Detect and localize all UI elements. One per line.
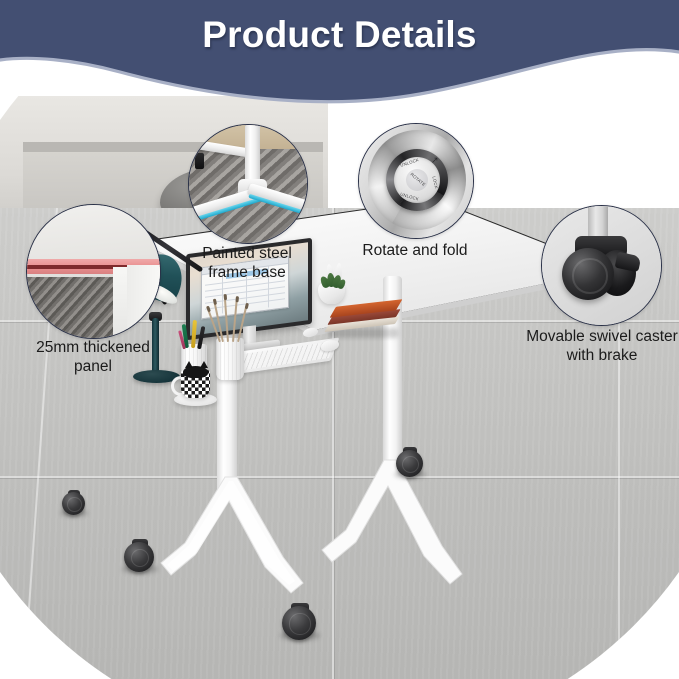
rotate-arrow-down-icon: ↙ xyxy=(397,198,405,207)
desk-foot-left xyxy=(133,471,323,601)
thickened-panel-bubble xyxy=(26,204,161,339)
callout-swivel-caster: Movable swivel caster with brake xyxy=(541,205,679,365)
callout-steel-frame: Painted steel frame base xyxy=(188,124,368,284)
page-title: Product Details xyxy=(0,14,679,56)
callout-label-swivel-caster: Movable swivel caster with brake xyxy=(497,327,679,365)
header-banner: Product Details xyxy=(0,0,679,115)
callout-label-rotate-fold: Rotate and fold xyxy=(334,241,496,260)
callout-rotate-fold: UNLOCK UNLOCK LOCK ROTATE ↗ ↙ Rotate and… xyxy=(358,123,538,273)
product-details-infographic: Product Details 25mm thickened panel xyxy=(0,0,679,679)
callout-label-thickened-panel: 25mm thickened panel xyxy=(0,338,188,376)
rotate-fold-bubble: UNLOCK UNLOCK LOCK ROTATE ↗ ↙ xyxy=(358,123,474,239)
rotate-arrow-up-icon: ↗ xyxy=(431,156,439,165)
steel-frame-bubble xyxy=(188,124,308,244)
callout-label-steel-frame: Painted steel frame base xyxy=(166,244,328,282)
brush-holder-cup xyxy=(216,338,244,380)
swivel-caster-bubble xyxy=(541,205,662,326)
